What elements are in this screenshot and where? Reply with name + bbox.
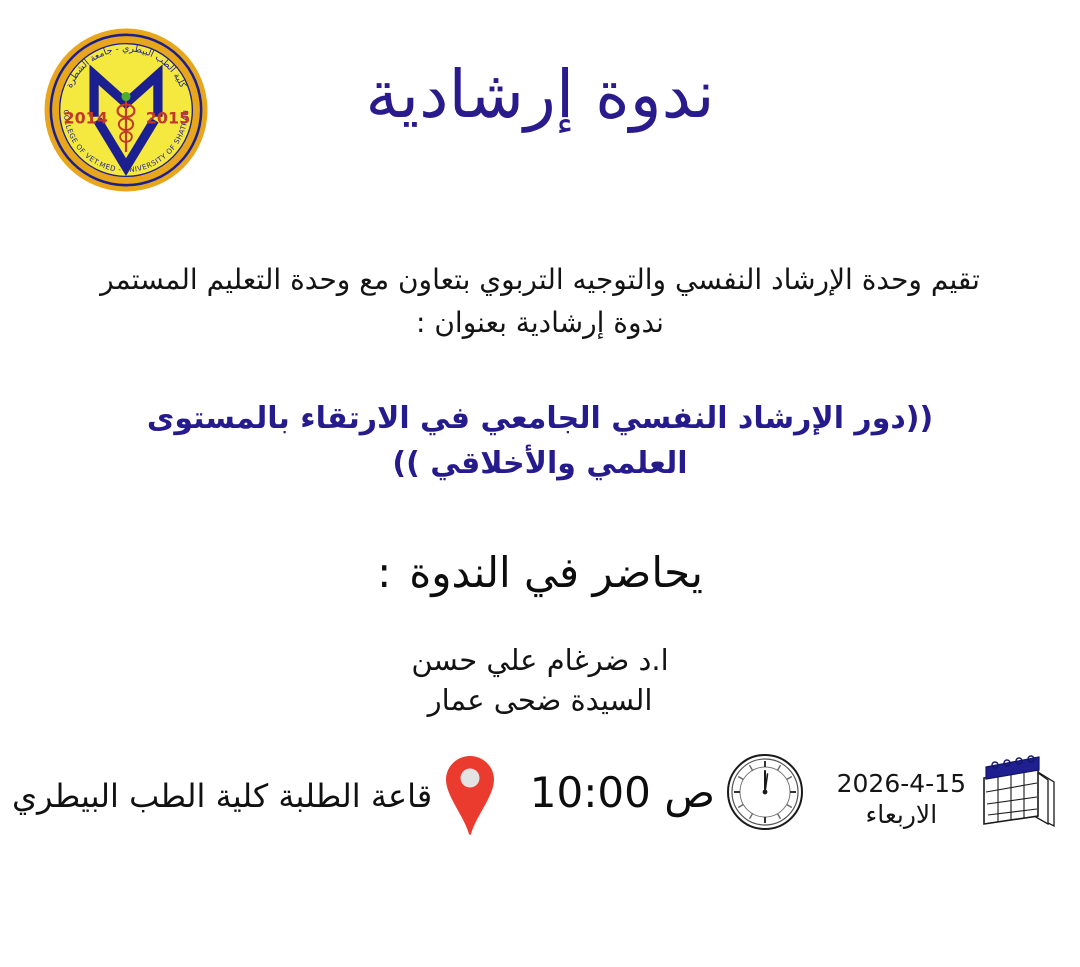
- speakers-heading-colon: :: [377, 548, 391, 597]
- event-time-item: ص 10:00: [530, 752, 805, 832]
- event-time-text: ص 10:00: [530, 752, 715, 814]
- speakers-heading: يحاضر في الندوة:: [0, 548, 1080, 598]
- seminar-title: ((دور الإرشاد النفسي الجامعي في الارتقاء…: [120, 396, 960, 486]
- intro-paragraph: تقيم وحدة الإرشاد النفسي والتوجيه التربو…: [78, 258, 1002, 345]
- intro-line-1: تقيم وحدة الإرشاد النفسي والتوجيه التربو…: [78, 258, 1002, 301]
- event-time-value: 10:00: [530, 768, 651, 817]
- event-date-block: 2026-4-15 الاربعاء: [837, 752, 966, 832]
- page-title: ندوة إرشادية: [0, 58, 1080, 132]
- calendar-icon: [976, 752, 1062, 834]
- event-day-name: الاربعاء: [865, 799, 937, 832]
- speaker-name: السيدة ضحى عمار: [0, 680, 1080, 720]
- map-pin-icon: [442, 752, 498, 838]
- speakers-heading-label: يحاضر في الندوة: [409, 548, 703, 597]
- seminar-announcement-poster: كلية الطب البيطري - جامعة الشطرة COLLEGE…: [0, 0, 1080, 967]
- speakers-list: ا.د ضرغام علي حسن السيدة ضحى عمار: [0, 640, 1080, 720]
- intro-line-2: ندوة إرشادية بعنوان :: [78, 301, 1002, 344]
- event-time-period: ص: [664, 768, 715, 817]
- speaker-name: ا.د ضرغام علي حسن: [0, 640, 1080, 680]
- clock-icon: [725, 752, 805, 832]
- event-details-row: 2026-4-15 الاربعاء: [0, 752, 1080, 862]
- event-date-item: 2026-4-15 الاربعاء: [837, 752, 1068, 834]
- event-venue-item: قاعة الطلبة كلية الطب البيطري: [8, 752, 498, 838]
- event-date-value: 2026-4-15: [837, 768, 966, 799]
- event-venue-value: قاعة الطلبة كلية الطب البيطري: [12, 752, 432, 816]
